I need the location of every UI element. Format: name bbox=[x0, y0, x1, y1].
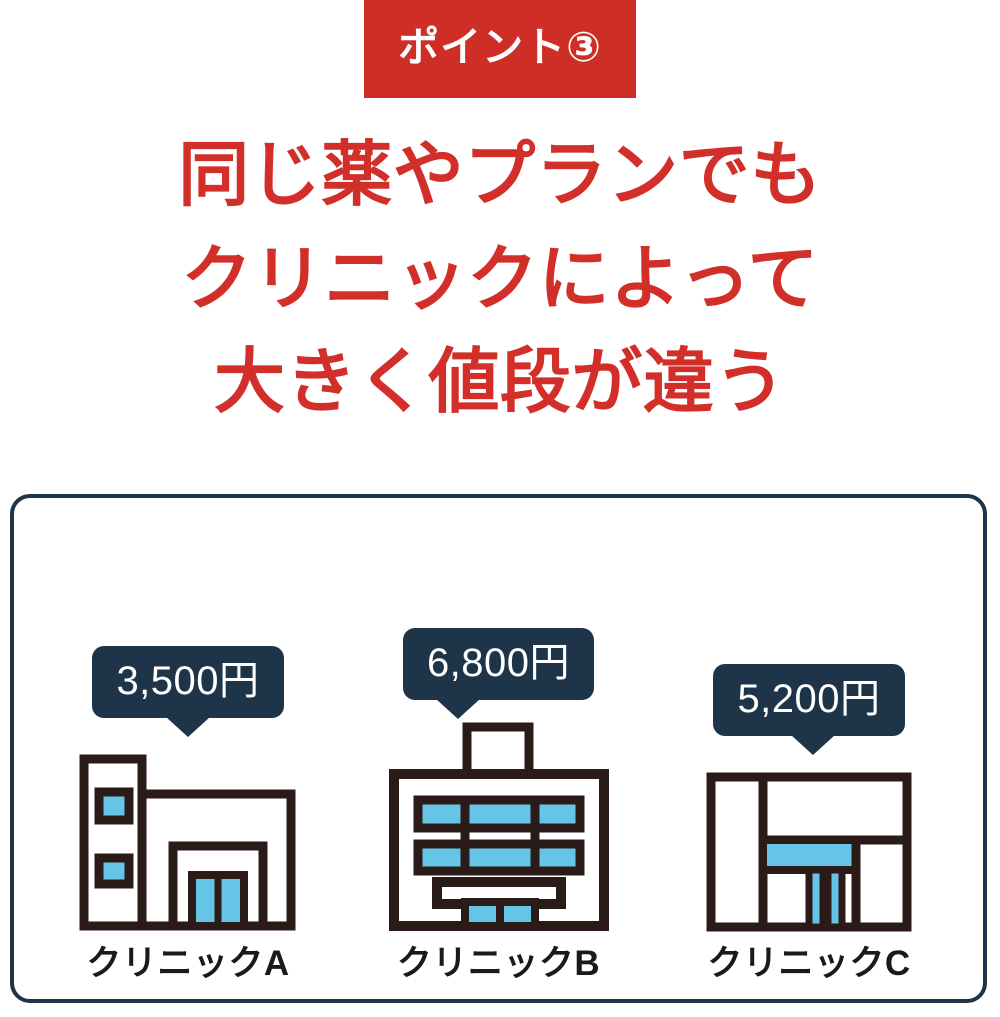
headline-line-3: 大きく値段が違う bbox=[0, 331, 1000, 435]
clinic-item-a: 3,500円 クリニックA bbox=[38, 646, 338, 981]
clinic-label-a: クリニックA bbox=[86, 946, 289, 981]
headline-line-1: 同じ薬やプランでも bbox=[0, 124, 1000, 228]
point-badge: ポイント③ bbox=[364, 0, 636, 98]
price-bubble-b: 6,800円 bbox=[403, 628, 594, 700]
headline-line-2: クリニックによって bbox=[0, 228, 1000, 332]
price-bubble-a: 3,500円 bbox=[92, 646, 283, 718]
comparison-card: 3,500円 クリニックA 6,800円 bbox=[10, 494, 987, 1003]
clinic-building-a-icon bbox=[79, 754, 297, 932]
page-title: 同じ薬やプランでも クリニックによって 大きく値段が違う bbox=[0, 124, 1000, 435]
clinic-item-b: 6,800円 bbox=[349, 628, 649, 981]
clinic-building-c-icon bbox=[706, 772, 912, 932]
clinic-building-b-icon bbox=[389, 722, 609, 932]
clinic-label-b: クリニックB bbox=[397, 946, 600, 981]
badge-container: ポイント③ bbox=[0, 0, 1000, 98]
price-bubble-c: 5,200円 bbox=[713, 664, 904, 736]
clinic-list: 3,500円 クリニックA 6,800円 bbox=[14, 498, 983, 999]
clinic-label-c: クリニックC bbox=[707, 946, 910, 981]
clinic-item-c: 5,200円 クリニックC bbox=[659, 664, 959, 981]
